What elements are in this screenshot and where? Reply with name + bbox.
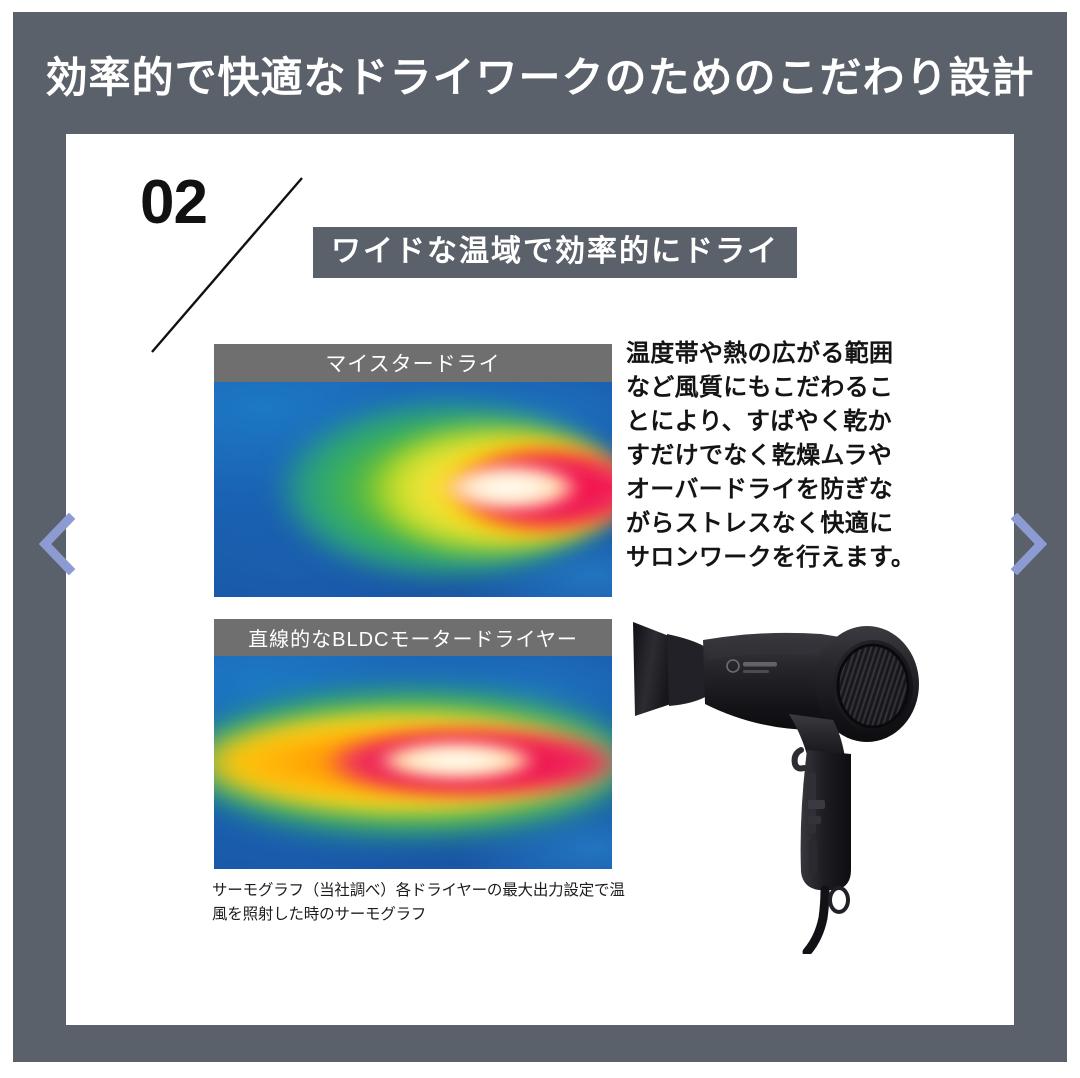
thermal-caption: サーモグラフ（当社調べ）各ドライヤーの最大出力設定で温風を照射した時のサーモグラ… [212, 879, 632, 927]
chevron-left-icon[interactable] [37, 513, 83, 575]
step-number: 02 [140, 172, 207, 234]
thermograph-image-meister [214, 382, 612, 597]
page-title: 効率的で快適なドライワークのためのこだわり設計 [13, 38, 1067, 110]
thermal-plume-core [373, 739, 540, 782]
content-card: 02 ワイドな温域で効率的にドライ マイスタードライ 直線的なBLDCモータード… [66, 134, 1014, 1025]
slide-stage: 効率的で快適なドライワークのためのこだわり設計 02 ワイドな温域で効率的にドラ… [0, 0, 1080, 1078]
hair-dryer-image [611, 604, 971, 954]
thermal-label: マイスタードライ [214, 344, 612, 382]
section-title-banner: ワイドな温域で効率的にドライ [313, 227, 797, 278]
thermal-label: 直線的なBLDCモータードライヤー [214, 619, 612, 656]
thermograph-image-bldc [214, 656, 612, 869]
chevron-right-icon[interactable] [1003, 513, 1049, 575]
thermal-figure-meister: マイスタードライ [214, 344, 612, 597]
thermal-figure-bldc: 直線的なBLDCモータードライヤー [214, 619, 612, 869]
thermal-plume-core [437, 462, 588, 514]
feature-description: 温度帯や熱の広がる範囲など風質にもこだわることにより、すばやく乾かすだけでなく乾… [626, 337, 916, 576]
